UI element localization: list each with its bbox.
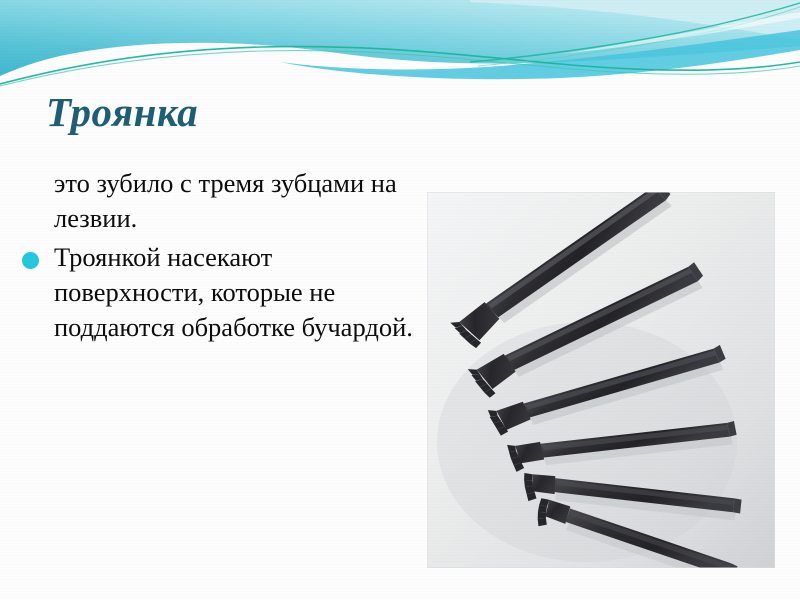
troyanka-chisels-photo: Шесть металлических зубил-троянок с зубч… bbox=[427, 192, 775, 568]
list-item-label: Троянкой насекают поверхности, которые н… bbox=[54, 240, 422, 345]
decorative-wave-banner bbox=[0, 0, 800, 88]
bullet-dot-icon bbox=[22, 252, 39, 269]
bullet-slot bbox=[22, 166, 54, 195]
list-item-label: это зубило с тремя зубцами на лезвии. bbox=[54, 166, 422, 236]
list-item: Троянкой насекают поверхности, которые н… bbox=[22, 240, 422, 345]
presentation-slide: Троянка это зубило с тремя зубцами на ле… bbox=[0, 0, 800, 600]
bullet-slot bbox=[22, 240, 54, 269]
page-title: Троянка bbox=[46, 88, 566, 136]
list-item: это зубило с тремя зубцами на лезвии. bbox=[22, 166, 422, 236]
slide-body-text: это зубило с тремя зубцами на лезвии. Тр… bbox=[22, 166, 422, 349]
bullet-dot-icon bbox=[22, 178, 39, 195]
